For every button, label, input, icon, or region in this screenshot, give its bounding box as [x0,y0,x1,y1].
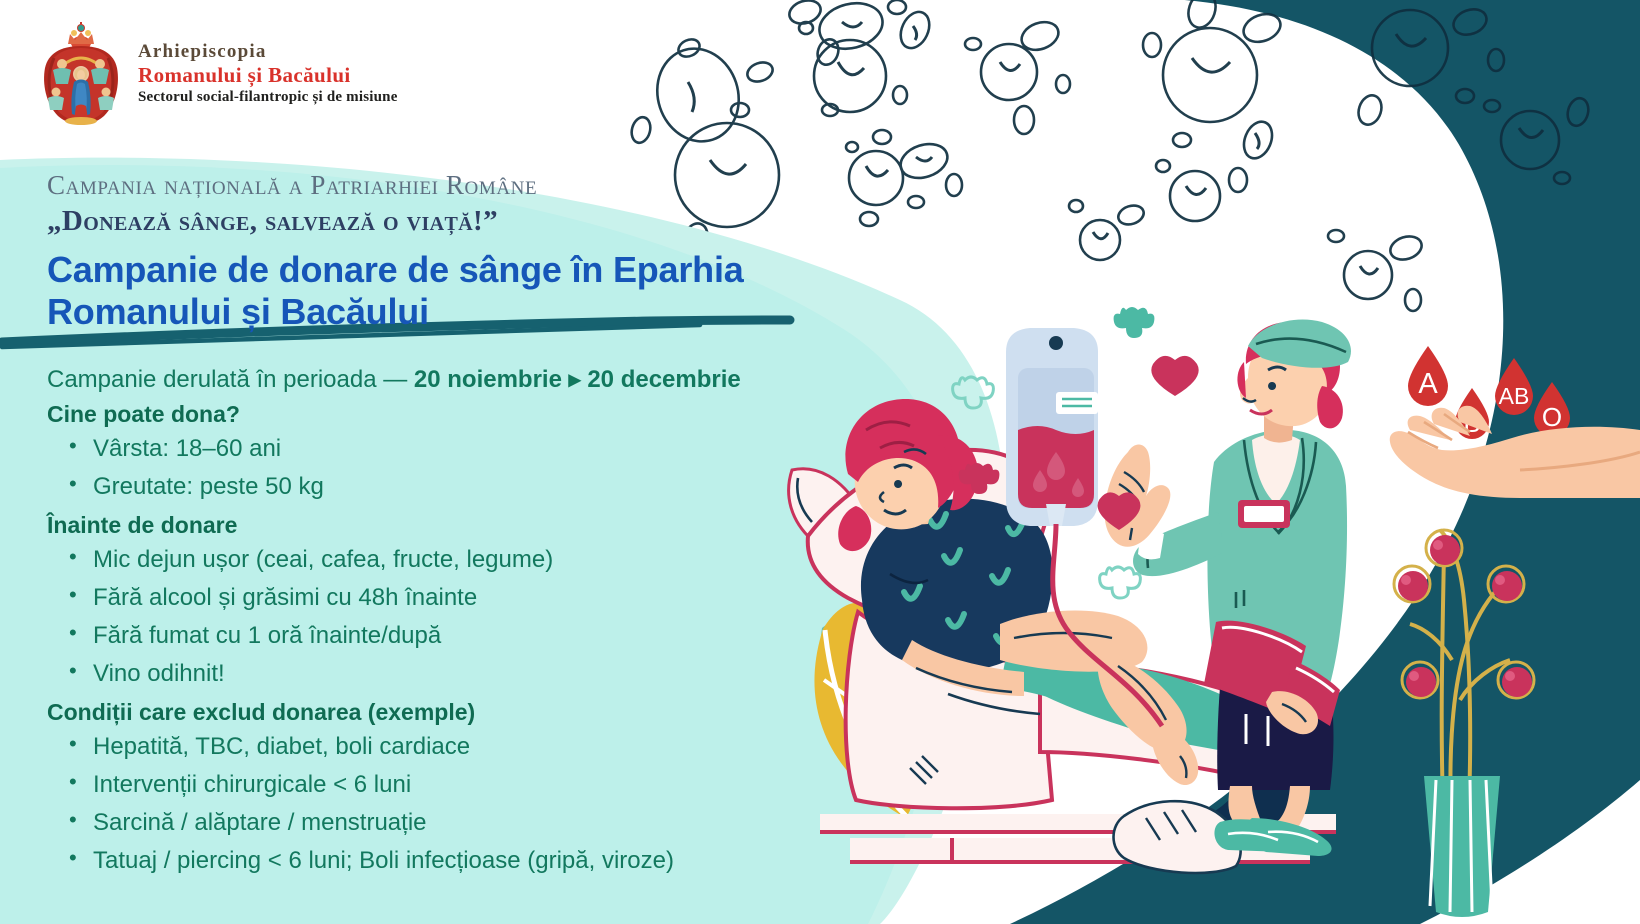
list-exclusions: Hepatită, TBC, diabet, boli cardiace Int… [47,728,820,880]
section-who: Cine poate dona? Vârsta: 18–60 ani Greut… [47,401,820,506]
brand-line-3: Sectorul social-filantropic și de misiun… [138,90,398,106]
brand-logo: Arhiepiscopia Romanului și Bacăului Sect… [40,22,398,126]
list-item: Greutate: peste 50 kg [47,468,820,506]
section-before: Înainte de donare Mic dejun ușor (ceai, … [47,512,820,693]
list-before: Mic dejun ușor (ceai, cafea, fructe, leg… [47,541,820,693]
list-item: Mic dejun ușor (ceai, cafea, fructe, leg… [47,541,820,579]
brand-line-2: Romanului și Bacăului [138,64,398,86]
orthodox-coat-of-arms-icon [40,22,122,126]
content-panel: Campania națională a Patriarhiei Române … [0,170,820,879]
list-item: Intervenții chirurgicale < 6 luni [47,766,820,804]
list-item: Fără fumat cu 1 oră înainte/după [47,617,820,655]
section-heading-who: Cine poate dona? [47,401,820,428]
campaign-quote: „Donează sânge, salvează o viață!” [47,205,820,238]
campaign-kicker: Campania națională a Patriarhiei Române [47,170,820,201]
page-title: Campanie de donare de sânge în Eparhia R… [47,249,820,332]
list-item: Tatuaj / piercing < 6 luni; Boli infecți… [47,842,820,880]
list-item: Vino odihnit! [47,655,820,693]
section-exclusions: Condiții care exclud donarea (exemple) H… [47,699,820,880]
list-who: Vârsta: 18–60 ani Greutate: peste 50 kg [47,430,820,506]
list-item: Vârsta: 18–60 ani [47,430,820,468]
campaign-period-label: Campanie derulată în perioada — [47,366,414,393]
headline-line-2: Romanului și Bacăului [47,291,429,332]
campaign-period-value: 20 noiembrie ▸ 20 decembrie [414,366,741,393]
section-heading-before: Înainte de donare [47,512,820,539]
campaign-period: Campanie derulată în perioada — 20 noiem… [47,364,820,395]
list-item: Fără alcool și grăsimi cu 48h înainte [47,579,820,617]
list-item: Hepatită, TBC, diabet, boli cardiace [47,728,820,766]
headline-line-1: Campanie de donare de sânge în Eparhia [47,249,744,290]
list-item: Sarcină / alăptare / menstruație [47,804,820,842]
section-heading-exclusions: Condiții care exclud donarea (exemple) [47,699,820,726]
poster-canvas: Arhiepiscopia Romanului și Bacăului Sect… [0,0,1640,924]
brand-line-1: Arhiepiscopia [138,42,398,62]
